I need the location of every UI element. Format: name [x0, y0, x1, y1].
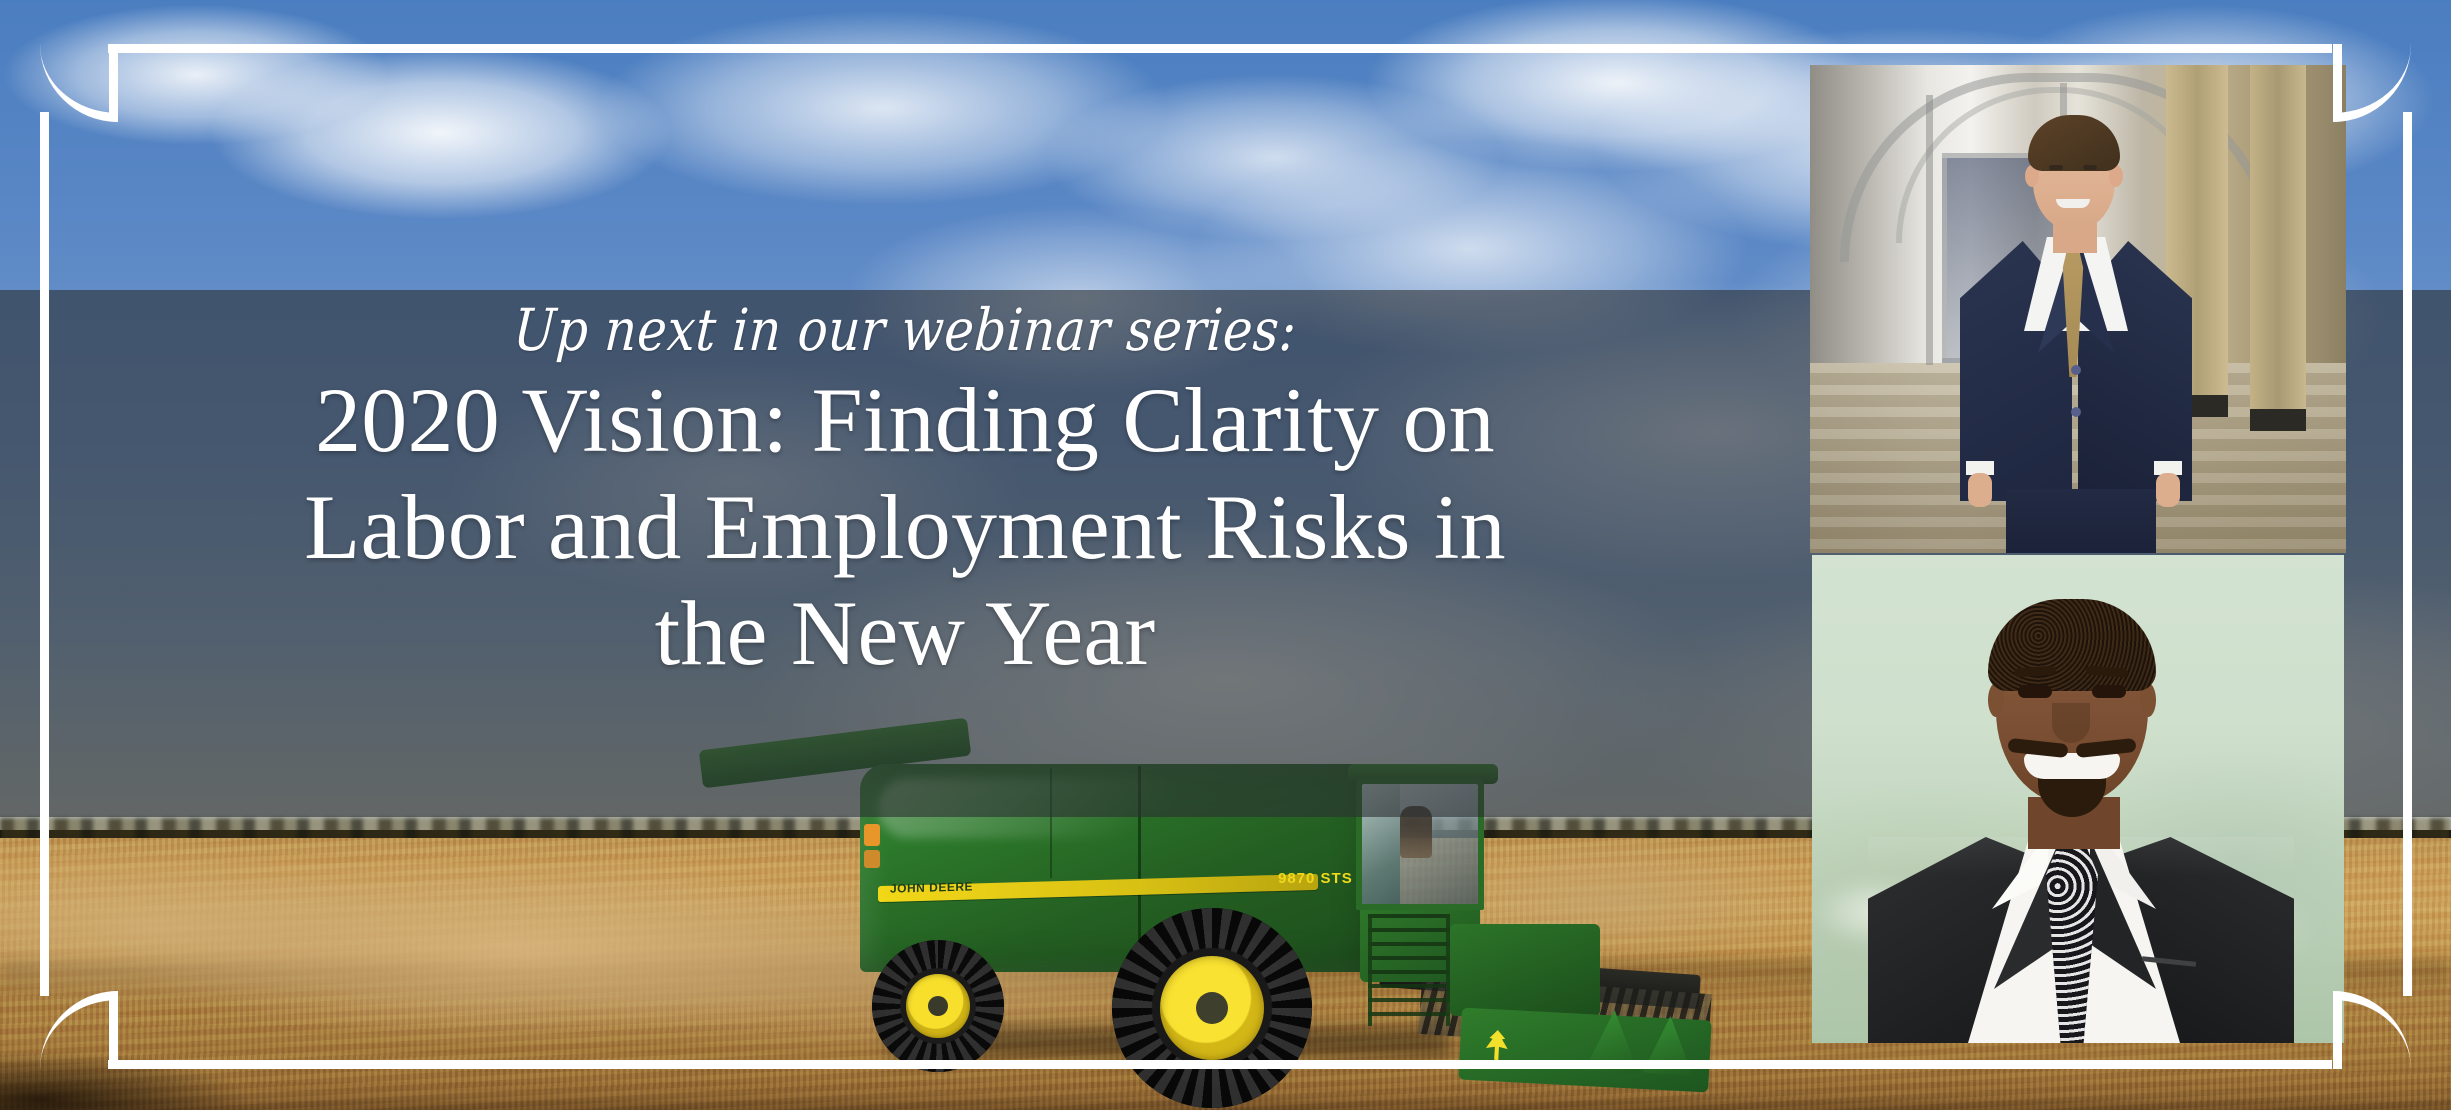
front-light-upper	[864, 824, 880, 846]
front-hub-center	[1196, 992, 1228, 1024]
column-base-b	[2250, 409, 2306, 431]
headline-line-1: 2020 Vision: Finding Clarity on	[304, 367, 1506, 474]
speaker-photo-bottom	[1812, 555, 2344, 1043]
eye-left	[2049, 165, 2063, 170]
nose	[2052, 703, 2090, 743]
eyebrow-text: Up next in our webinar series:	[512, 300, 1298, 361]
headline-line-2: Labor and Employment Risks in	[304, 474, 1506, 581]
eye-left	[2018, 685, 2052, 698]
banner-headline: 2020 Vision: Finding Clarity on Labor an…	[304, 367, 1506, 687]
access-ladder	[1368, 914, 1450, 1026]
model-label: 9870 STS	[1278, 870, 1353, 887]
jacket-button-lower	[2071, 407, 2081, 417]
headline-line-3: the New Year	[304, 580, 1506, 687]
webinar-promo-banner: JOHN DEERE 9870 STS	[0, 0, 2451, 1110]
hand-left	[1968, 473, 1992, 507]
brand-label: JOHN DEERE	[890, 877, 1010, 897]
trousers	[2006, 489, 2156, 553]
smile	[2056, 199, 2090, 208]
smile	[2024, 753, 2120, 779]
rear-hub-center	[928, 996, 948, 1016]
jacket-button-upper	[2071, 365, 2081, 375]
hand-right	[2156, 473, 2180, 507]
front-light-lower	[864, 850, 880, 868]
lobby-column-b	[2250, 65, 2306, 409]
engine-housing	[1450, 924, 1600, 1016]
speaker-photo-top	[1810, 65, 2346, 553]
window-mullion-a	[1926, 95, 1933, 365]
eye-right	[2083, 165, 2097, 170]
banner-text-block: Up next in our webinar series: 2020 Visi…	[60, 290, 1750, 817]
eye-right	[2092, 685, 2126, 698]
